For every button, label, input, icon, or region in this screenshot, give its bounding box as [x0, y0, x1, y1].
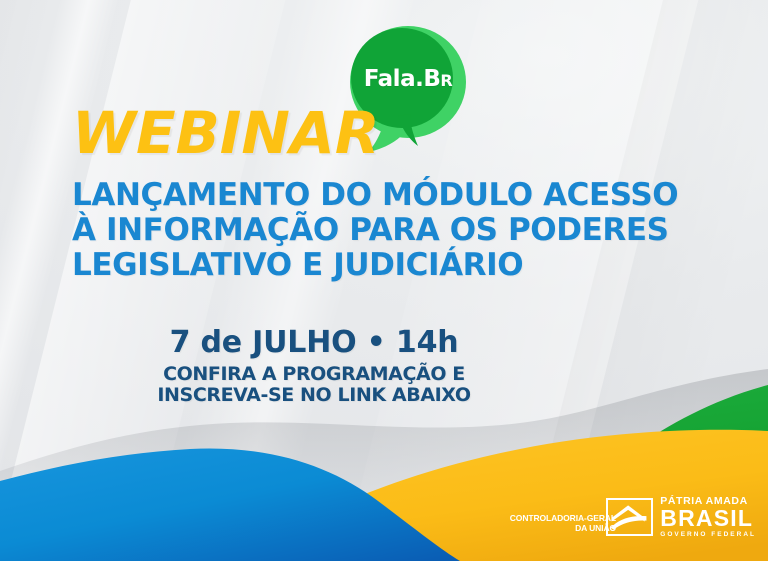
brasil-tagline-bottom: GOVERNO FEDERAL — [660, 530, 756, 539]
subtitle-line-2: À INFORMAÇÃO PARA OS PODERES — [72, 213, 712, 248]
webinar-banner: Fala.BR WEBINAR LANÇAMENTO DO MÓDULO ACE… — [0, 0, 768, 561]
subtitle-line-1: LANÇAMENTO DO MÓDULO ACESSO — [72, 178, 712, 213]
governo-federal-logo: PÁTRIA AMADA BRASIL GOVERNO FEDERAL — [606, 496, 756, 539]
falabr-text-r: R — [440, 71, 452, 90]
event-date: 7 de JULHO • 14h — [0, 326, 628, 360]
cta-line-2: INSCREVA-SE NO LINK ABAIXO — [0, 385, 628, 406]
subtitle: LANÇAMENTO DO MÓDULO ACESSO À INFORMAÇÃO… — [72, 178, 712, 283]
falabr-text-b: B — [423, 66, 440, 92]
cgu-logo: CONTROLADORIA-GERAL DA UNIÃO — [510, 513, 616, 534]
cgu-line-2: DA UNIÃO — [510, 523, 616, 534]
call-to-action: CONFIRA A PROGRAMAÇÃO E INSCREVA-SE NO L… — [0, 364, 628, 407]
page-title: WEBINAR — [72, 104, 379, 162]
cta-line-1: CONFIRA A PROGRAMAÇÃO E — [0, 364, 628, 385]
brasil-title: BRASIL — [660, 507, 756, 530]
falabr-wordmark: Fala.BR — [340, 68, 476, 91]
cgu-line-1: CONTROLADORIA-GERAL — [510, 513, 616, 524]
brasil-arch-icon — [606, 498, 653, 536]
falabr-text-fala: Fala — [364, 66, 415, 92]
brasil-wordmark: PÁTRIA AMADA BRASIL GOVERNO FEDERAL — [660, 496, 756, 539]
subtitle-line-3: LEGISLATIVO E JUDICIÁRIO — [72, 248, 712, 283]
event-details: 7 de JULHO • 14h CONFIRA A PROGRAMAÇÃO E… — [0, 326, 768, 406]
